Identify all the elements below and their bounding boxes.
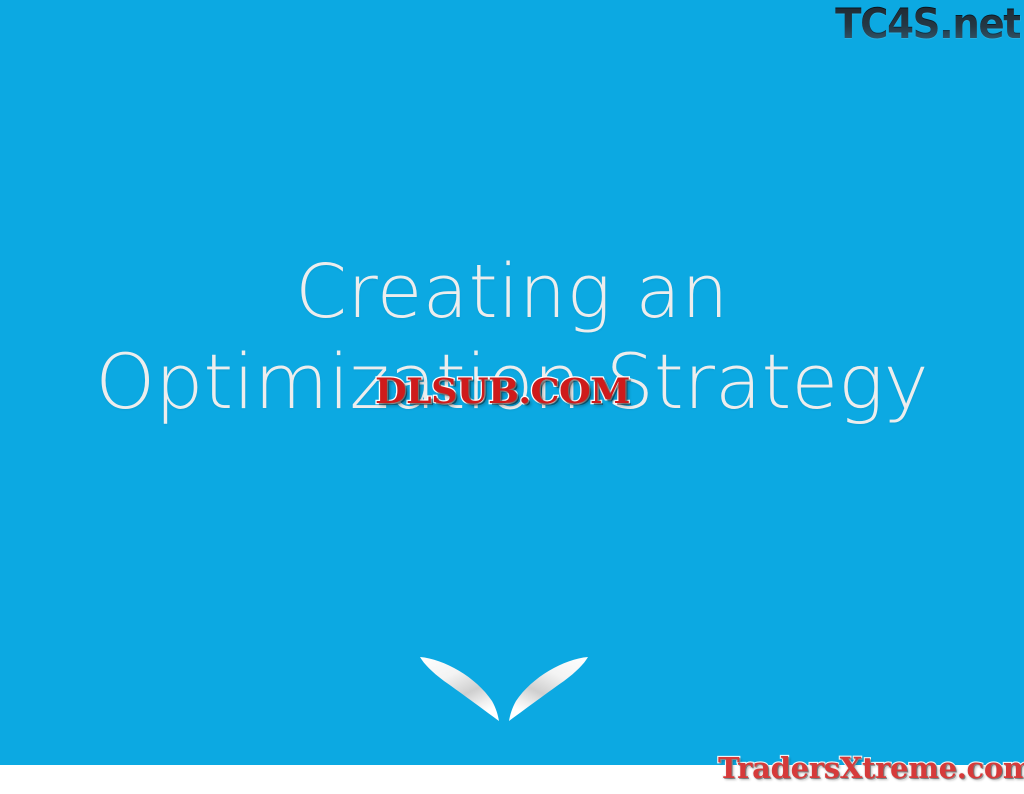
dlsub-watermark: DLSUB.COM: [375, 373, 630, 411]
tc4s-site-logo: TC4S.net: [835, 2, 1020, 46]
wings-chevron-icon: [418, 651, 590, 723]
title-line-1: Creating an: [0, 247, 1024, 337]
wings-chevron-logo: [418, 651, 590, 723]
presentation-slide: TC4S.net Creating an Optimization Strate…: [0, 0, 1024, 794]
tradersxtreme-watermark: TradersXtreme.com: [718, 752, 1024, 784]
